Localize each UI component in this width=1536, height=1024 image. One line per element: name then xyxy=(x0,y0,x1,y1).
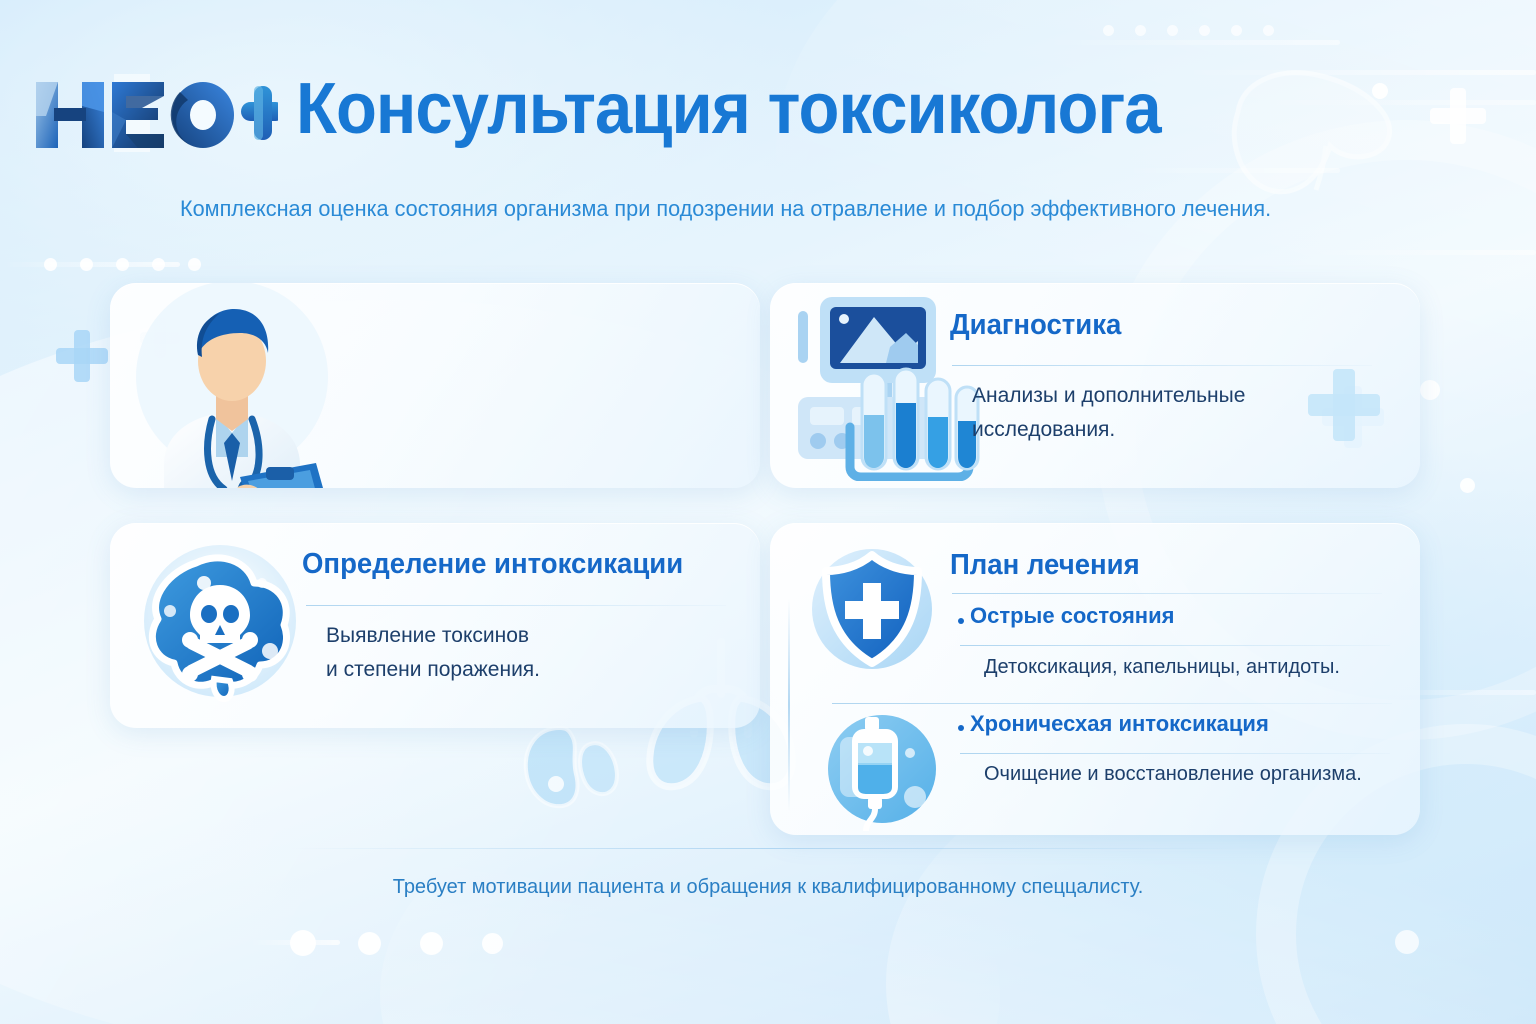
dot-row xyxy=(1460,478,1475,493)
bullet-marker xyxy=(958,618,964,624)
streak-line xyxy=(250,940,340,945)
brand-logo xyxy=(28,72,278,154)
dot-row xyxy=(358,932,381,955)
streak-line xyxy=(0,262,180,267)
iv-drip-icon xyxy=(822,713,942,831)
doctor-illustration-icon xyxy=(120,283,330,488)
page-header: Консультация токсиколога Комплексная оце… xyxy=(0,0,1536,250)
dot-row xyxy=(482,933,503,954)
dot-row xyxy=(44,258,57,271)
dot-row xyxy=(116,258,129,271)
dot-row xyxy=(290,930,316,956)
divider xyxy=(306,605,726,606)
dot-row xyxy=(188,258,201,271)
divider xyxy=(952,365,1372,366)
dot-row xyxy=(1395,930,1419,954)
dot-row xyxy=(420,932,443,955)
treatment-item-text-acute: Детоксикация, капельницы, антидоты. xyxy=(984,656,1340,679)
streak-line xyxy=(1300,250,1536,255)
divider xyxy=(788,599,790,811)
treatment-item-heading-chronic: Хроничесхая интоксикация xyxy=(970,711,1269,737)
cross-shape xyxy=(56,330,108,382)
dot-row xyxy=(80,258,93,271)
card-diagnostics[interactable]: Диагностика Анализы и дополнительные исс… xyxy=(770,283,1420,488)
footer-note: Требует мотивации пациента и обращения к… xyxy=(0,876,1536,899)
divider xyxy=(960,753,1390,754)
page-subtitle: Комплексная оценка состояния организма п… xyxy=(180,196,1401,222)
treatment-item-text-chronic: Очищение и восстановление организма. xyxy=(984,763,1362,786)
card-body-line: и степени поражения. xyxy=(326,653,726,687)
card-body-line: исследования. xyxy=(972,413,1372,447)
card-treatment-plan[interactable]: Острые состояния Детоксикация, капельниц… xyxy=(770,523,1420,835)
bullet-marker xyxy=(958,725,964,731)
card-body-intoxication: Выявление токсинов и степени поражения. xyxy=(326,619,726,687)
card-title-treatment-plan: План лечения xyxy=(950,549,1140,582)
treatment-item-heading-acute: Острые состояния xyxy=(970,603,1174,629)
divider xyxy=(832,703,1392,704)
card-anamnesis[interactable]: Сбор анамнеза Анализ симптомов, болезией… xyxy=(110,283,760,488)
dot-row xyxy=(152,258,165,271)
card-body-diagnostics: Анализы и дополнительные исследования. xyxy=(972,379,1372,447)
card-body-line: Выявление токсинов xyxy=(326,619,726,653)
divider xyxy=(960,645,1390,646)
page-title: Консультация токсиколога xyxy=(296,68,1161,150)
divider xyxy=(952,593,1382,594)
kidney-outline-icon xyxy=(520,722,640,812)
card-title-intoxication: Определение интоксикации xyxy=(302,548,683,581)
dot-row xyxy=(1420,380,1440,400)
divider xyxy=(290,848,1246,849)
shield-cross-icon xyxy=(808,545,936,673)
card-intoxication[interactable]: Определение интоксикации Выявление токси… xyxy=(110,523,760,728)
card-title-diagnostics: Диагностика xyxy=(950,309,1121,342)
card-body-line: Анализы и дополнительные xyxy=(972,379,1372,413)
toxic-skull-icon xyxy=(136,541,304,709)
